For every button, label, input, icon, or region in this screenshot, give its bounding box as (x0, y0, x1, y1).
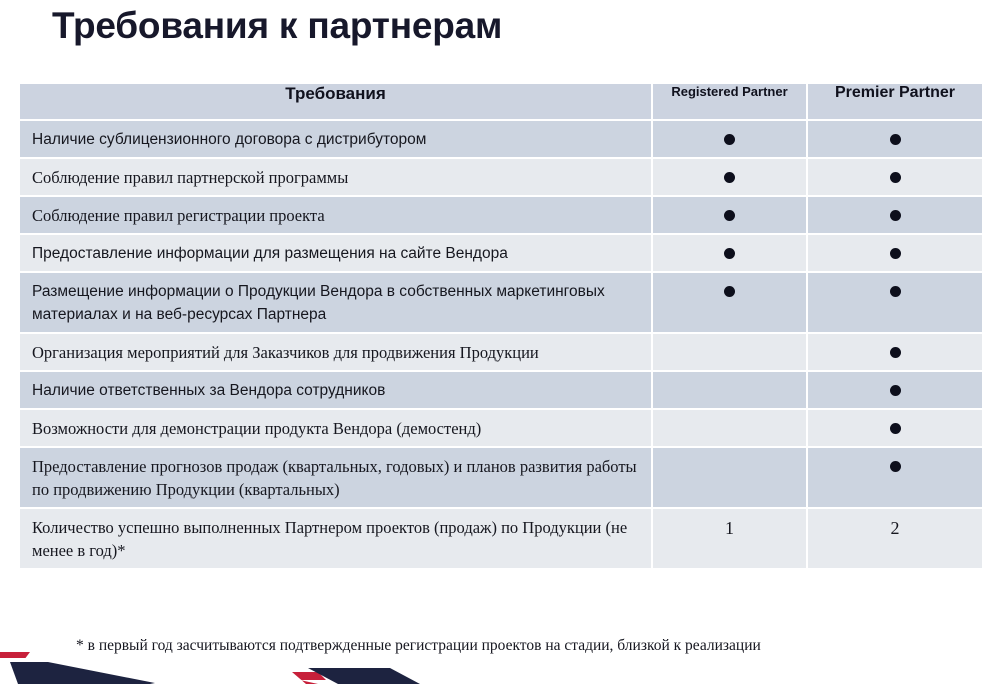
bullet-dot-icon (724, 210, 735, 221)
bullet-dot-icon (890, 347, 901, 358)
registered-partner-cell (653, 334, 808, 372)
bullet-dot-icon (724, 172, 735, 183)
table-row: Предоставление информации для размещения… (20, 235, 982, 273)
requirement-cell: Возможности для демонстрации продукта Ве… (20, 410, 653, 448)
table-row: Размещение информации о Продукции Вендор… (20, 273, 982, 334)
table-body: Наличие сублицензионного договора с дист… (20, 121, 982, 570)
premier-partner-cell (808, 121, 982, 159)
column-header-registered-partner: Registered Partner (653, 84, 808, 121)
bullet-dot-icon (724, 286, 735, 297)
registered-partner-cell (653, 197, 808, 235)
decorative-ribbon-graphic (0, 644, 1000, 684)
bullet-dot-icon (890, 423, 901, 434)
premier-partner-cell (808, 410, 982, 448)
table-row: Количество успешно выполненных Партнером… (20, 509, 982, 570)
requirement-cell: Количество успешно выполненных Партнером… (20, 509, 653, 570)
table-row: Организация мероприятий для Заказчиков д… (20, 334, 982, 372)
bullet-dot-icon (724, 248, 735, 259)
bullet-dot-icon (890, 286, 901, 297)
registered-partner-cell (653, 410, 808, 448)
premier-partner-cell (808, 372, 982, 410)
bullet-dot-icon (890, 248, 901, 259)
table-row: Наличие ответственных за Вендора сотрудн… (20, 372, 982, 410)
requirement-cell: Предоставление информации для размещения… (20, 235, 653, 273)
premier-partner-cell (808, 159, 982, 197)
table-row: Предоставление прогнозов продаж (квартал… (20, 448, 982, 509)
requirement-cell: Размещение информации о Продукции Вендор… (20, 273, 653, 334)
bullet-dot-icon (890, 172, 901, 183)
premier-partner-cell: 2 (808, 509, 982, 570)
premier-partner-cell (808, 448, 982, 509)
requirement-cell: Организация мероприятий для Заказчиков д… (20, 334, 653, 372)
requirement-cell: Соблюдение правил партнерской программы (20, 159, 653, 197)
table-header-row: Требования Registered Partner Premier Pa… (20, 84, 982, 121)
value-text: 1 (725, 518, 734, 538)
requirement-cell: Наличие ответственных за Вендора сотрудн… (20, 372, 653, 410)
bullet-dot-icon (890, 134, 901, 145)
ribbon-white-right (430, 674, 560, 684)
requirement-cell: Предоставление прогнозов продаж (квартал… (20, 448, 653, 509)
registered-partner-cell (653, 121, 808, 159)
value-text: 2 (891, 518, 900, 538)
registered-partner-cell (653, 235, 808, 273)
premier-partner-cell (808, 197, 982, 235)
table-row: Наличие сублицензионного договора с дист… (20, 121, 982, 159)
bullet-dot-icon (890, 385, 901, 396)
registered-partner-cell (653, 372, 808, 410)
table-header: Требования Registered Partner Premier Pa… (20, 84, 982, 121)
requirement-cell: Соблюдение правил регистрации проекта (20, 197, 653, 235)
registered-partner-cell (653, 159, 808, 197)
registered-partner-cell: 1 (653, 509, 808, 570)
bullet-dot-icon (724, 134, 735, 145)
registered-partner-cell (653, 448, 808, 509)
bullet-dot-icon (890, 210, 901, 221)
bullet-dot-icon (890, 461, 901, 472)
column-header-premier-partner: Premier Partner (808, 84, 982, 121)
table-row: Соблюдение правил партнерской программы (20, 159, 982, 197)
column-header-requirement: Требования (20, 84, 653, 121)
partner-requirements-table: Требования Registered Partner Premier Pa… (20, 84, 982, 570)
ribbon-navy-left (10, 662, 160, 684)
premier-partner-cell (808, 273, 982, 334)
registered-partner-cell (653, 273, 808, 334)
page-title: Требования к партнерам (52, 0, 502, 52)
table-row: Возможности для демонстрации продукта Ве… (20, 410, 982, 448)
premier-partner-cell (808, 235, 982, 273)
ribbon-shapes-icon (0, 644, 1000, 684)
table-row: Соблюдение правил регистрации проекта (20, 197, 982, 235)
premier-partner-cell (808, 334, 982, 372)
requirement-cell: Наличие сублицензионного договора с дист… (20, 121, 653, 159)
